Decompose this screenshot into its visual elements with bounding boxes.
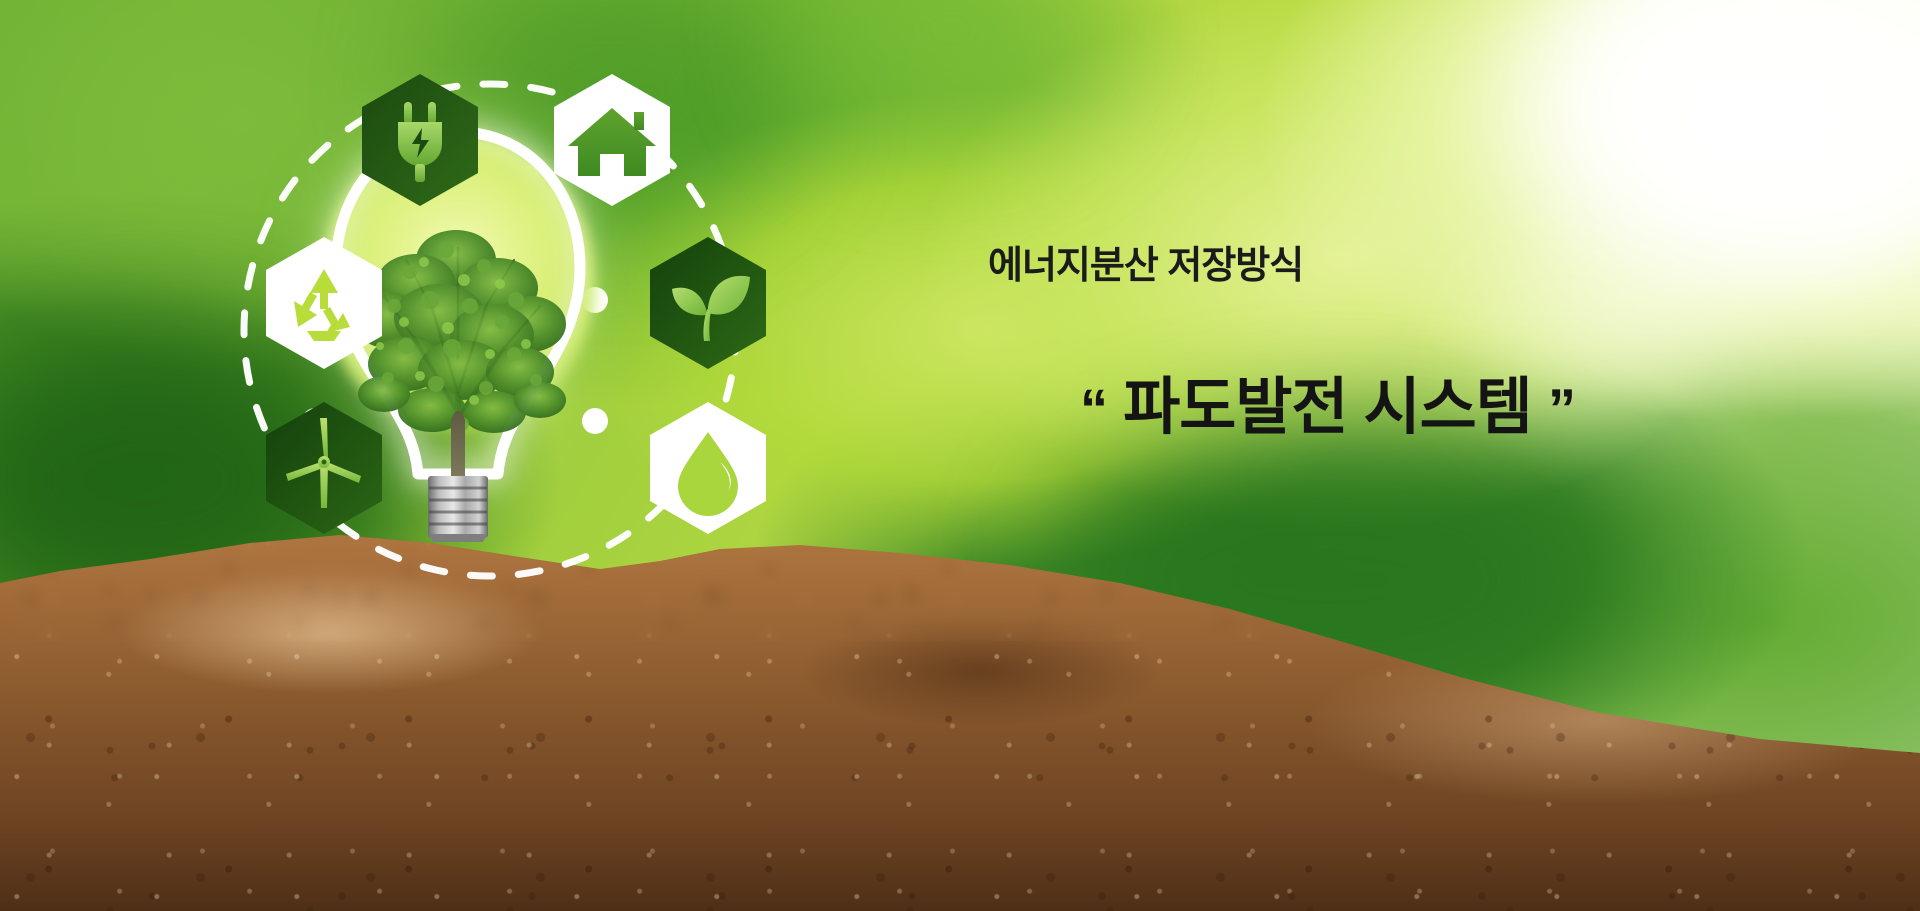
hex-node-leaf[interactable] bbox=[648, 235, 768, 371]
kicker-text: 에너지분산 저장방식 bbox=[988, 244, 1748, 290]
close-quote: ” bbox=[1548, 377, 1575, 440]
hex-node-water[interactable] bbox=[648, 400, 768, 536]
headline-label: 파도발전 시스템 bbox=[1123, 373, 1532, 442]
hex-node-house[interactable] bbox=[552, 72, 672, 208]
banner-root: 에너지분산 저장방식 “ 파도발전 시스템 ” bbox=[0, 0, 1920, 911]
hex-node-plug[interactable] bbox=[360, 72, 480, 208]
open-quote: “ bbox=[1080, 377, 1107, 440]
hex-node-wind[interactable] bbox=[264, 400, 384, 536]
banner-copy: 에너지분산 저장방식 “ 파도발전 시스템 ” bbox=[988, 244, 1748, 443]
eco-infographic-cluster bbox=[210, 60, 770, 620]
headline-text: “ 파도발전 시스템 ” bbox=[1080, 372, 1748, 443]
bulb-socket-icon bbox=[427, 476, 489, 542]
hex-node-recycle[interactable] bbox=[264, 235, 384, 371]
